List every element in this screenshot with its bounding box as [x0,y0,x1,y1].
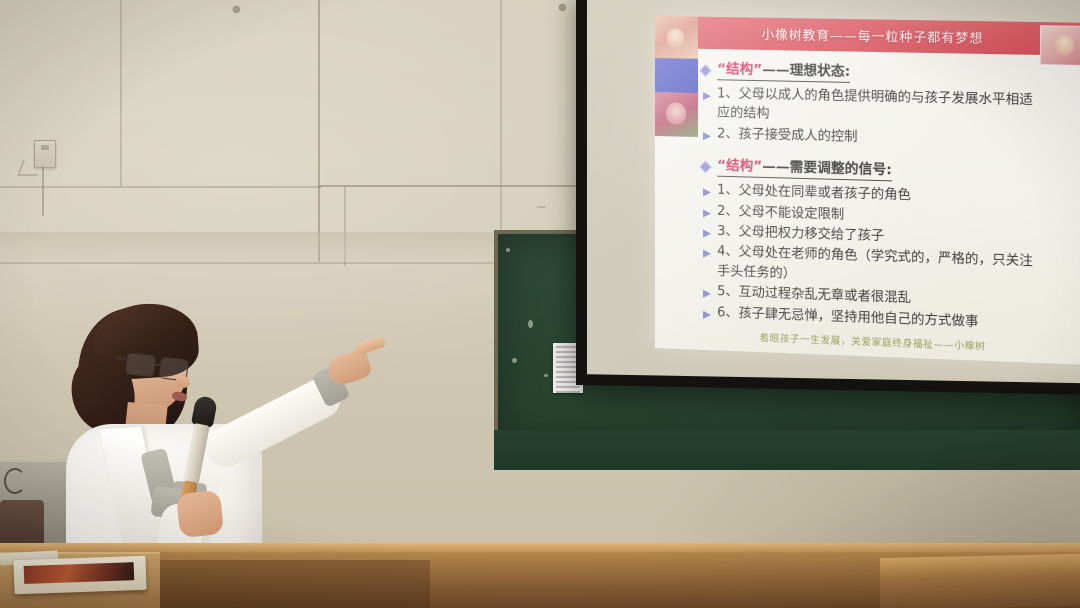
wall-seam-horizontal [0,186,322,188]
chalk-dust [512,358,517,363]
arrow-bullet-icon [703,209,711,217]
arrow-bullet-icon [703,92,711,100]
classroom-photo-scene: ∼ ● ● 小橡树教育——每一粒种子都有梦想 “结构”——理想状态 [0,0,1080,608]
arrow-bullet-icon [703,290,711,298]
heading-keyword: “结构” [717,61,762,78]
wall-seam-vertical [120,0,122,186]
book-cover-art [24,562,135,584]
heading-rest: ——需要调整的信号: [762,159,892,179]
arrow-bullet-icon [703,229,711,237]
slide-banner-title: 小橡树教育——每一粒种子都有梦想 [761,24,983,47]
arrow-bullet-icon [703,132,711,140]
chalk-dust [528,320,533,328]
desk-edge [0,543,1080,552]
wall-screw-mark: ● [558,2,567,13]
arrow-bullet-icon [703,188,711,196]
wall-seam-horizontal [0,262,500,264]
heading-keyword: “结构” [717,158,762,175]
desk-right-section [880,554,1080,608]
slide-content: “结构”——理想状态: 1、父母以成人的角色提供明确的与孩子发展水平相适 应的结… [701,61,1080,337]
slide-photo-child-bottom [655,92,698,137]
wall-seam-horizontal [318,185,580,187]
book-on-desk [13,556,146,595]
outlet-screw [41,145,49,150]
slide-photo-strip [655,16,698,137]
chalk-dust [544,374,548,377]
arrow-bullet-icon [703,311,711,319]
glasses-lens-left [125,352,156,377]
slide-photo-top-right [1040,25,1080,66]
heading-rest: ——理想状态: [762,62,850,80]
wall-seam-vertical [500,0,502,232]
nose [175,375,190,388]
wall-screw-mark: ● [232,4,241,15]
heading-text: “结构”——需要调整的信号: [717,158,892,182]
wall-seam-vertical [318,0,320,262]
list-item-text: 3、父母把权力移交给了孩子 [717,223,884,247]
shelf-cable [4,468,26,494]
diamond-bullet-icon [699,161,712,174]
arrow-bullet-icon [703,250,711,258]
chalk-dust [506,248,510,252]
heading-text: “结构”——理想状态: [717,61,850,83]
slide-photo-child-top [655,16,698,59]
list-item-text: 2、父母不能设定限制 [717,202,844,224]
list-item-text: 2、孩子接受成人的控制 [717,125,857,147]
wall-scuff-mark: ∼ [536,200,547,215]
blackboard-lower [494,430,1080,470]
outlet-cable [42,166,44,216]
slide-heading-1: “结构”——理想状态: [701,61,1080,88]
slide-photo-block-blue [655,58,698,93]
diamond-bullet-icon [699,64,712,77]
projected-slide: 小橡树教育——每一粒种子都有梦想 “结构”——理想状态: 1、父母以成人的角色提… [655,16,1080,365]
hand-holding-microphone [176,490,224,538]
